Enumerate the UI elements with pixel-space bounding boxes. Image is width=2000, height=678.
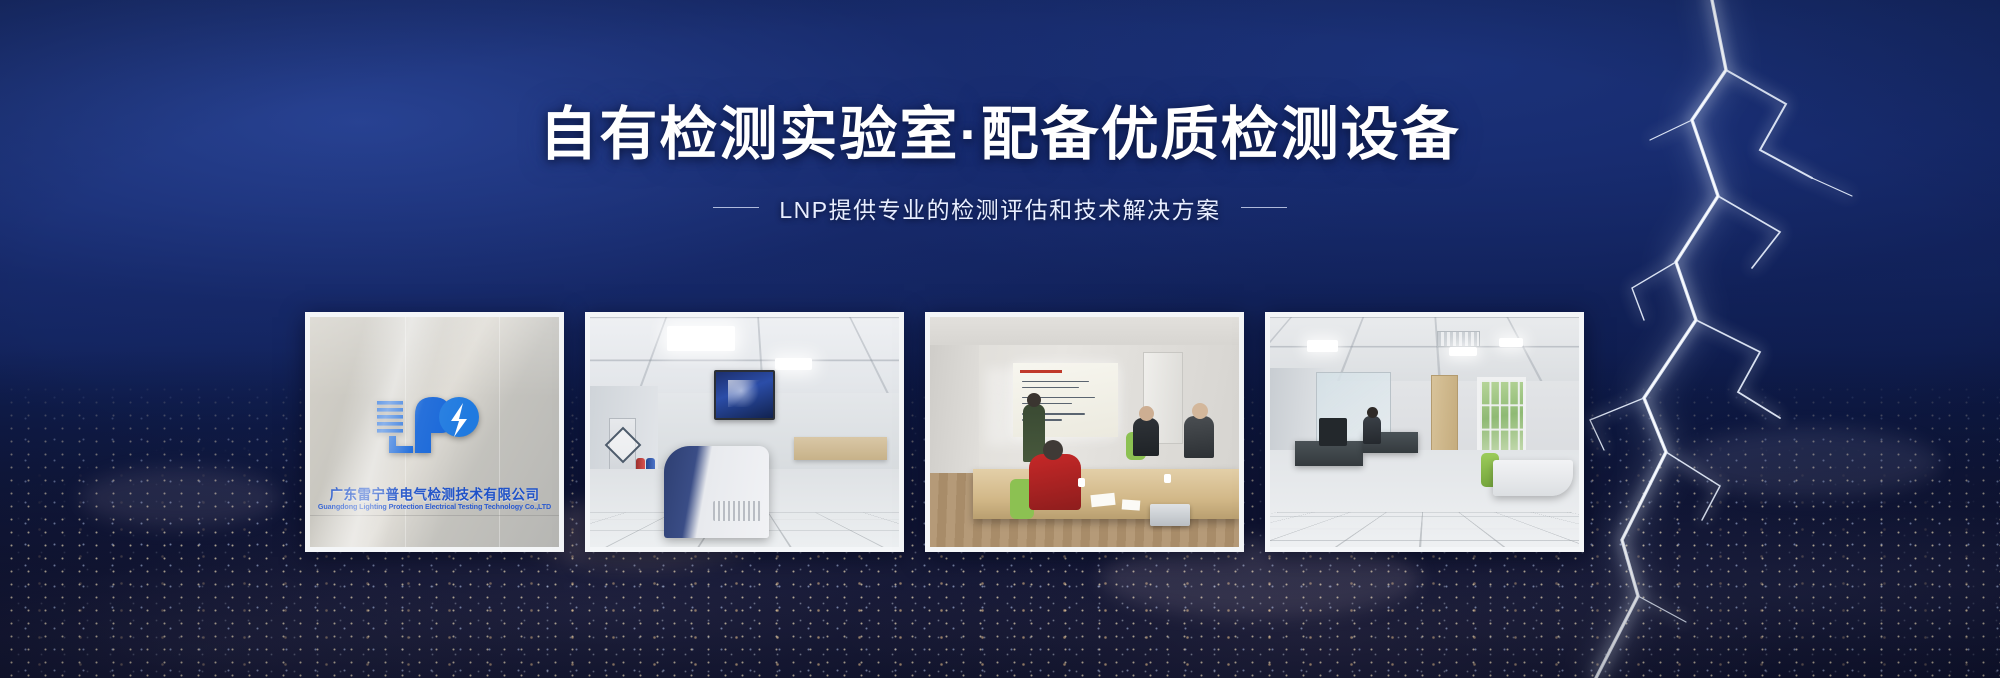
- gallery-card-meeting-room[interactable]: [925, 312, 1244, 552]
- test-console-unit: [664, 446, 769, 538]
- reception-counter: [1493, 460, 1573, 497]
- ceiling-panel-light: [775, 358, 812, 370]
- paper-cup: [1078, 478, 1085, 487]
- gallery-card-testing-laboratory[interactable]: [585, 312, 904, 552]
- gallery-card-company-signboard[interactable]: 广东雷宁普电气检测技术有限公司 Guangdong Lighting Prote…: [305, 312, 564, 552]
- ceiling-panel-light: [667, 326, 735, 351]
- company-signboard-photo: 广东雷宁普电气检测技术有限公司 Guangdong Lighting Prote…: [310, 317, 559, 547]
- rule-right: [1241, 207, 1287, 208]
- testing-laboratory-photo: [590, 317, 899, 547]
- page-title: 自有检测实验室·配备优质检测设备: [0, 104, 2000, 167]
- page-subtitle: LNP提供专业的检测评估和技术解决方案: [779, 191, 1220, 225]
- left-wall-panel: [930, 345, 979, 488]
- slide-text-line: [1022, 381, 1089, 383]
- seated-person: [1133, 418, 1159, 456]
- gallery-card-office-area[interactable]: [1265, 312, 1584, 552]
- ceiling-panel-light: [1499, 338, 1524, 347]
- laptop-computer: [1150, 504, 1190, 526]
- headline-block: 自有检测实验室·配备优质检测设备 LNP提供专业的检测评估和技术解决方案: [0, 104, 2000, 225]
- office-area-photo: [1270, 317, 1579, 547]
- slide-title-bar: [1020, 370, 1062, 373]
- ceiling-panel-light: [1307, 340, 1338, 352]
- air-conditioner-vent: [1437, 331, 1480, 347]
- subtitle-block: LNP提供专业的检测评估和技术解决方案: [0, 191, 2000, 225]
- paper-cup: [1164, 474, 1171, 483]
- document-sheet: [1090, 492, 1115, 506]
- ceiling-panel-light: [1449, 347, 1477, 356]
- seated-person-red-jacket: [1029, 454, 1081, 510]
- hero-banner: 自有检测实验室·配备优质检测设备 LNP提供专业的检测评估和技术解决方案: [0, 0, 2000, 678]
- rule-left: [713, 207, 759, 208]
- photo-gallery: 广东雷宁普电气检测技术有限公司 Guangdong Lighting Prote…: [305, 312, 1647, 552]
- wall-mounted-display: [714, 370, 776, 421]
- wooden-workbench: [794, 437, 887, 460]
- seated-person: [1184, 416, 1214, 458]
- computer-monitor: [1319, 418, 1347, 446]
- slide-text-line: [1022, 387, 1079, 389]
- meeting-room-photo: [930, 317, 1239, 547]
- wall-sheen-overlay: [310, 317, 559, 547]
- seated-worker: [1363, 416, 1381, 444]
- document-sheet: [1121, 500, 1140, 511]
